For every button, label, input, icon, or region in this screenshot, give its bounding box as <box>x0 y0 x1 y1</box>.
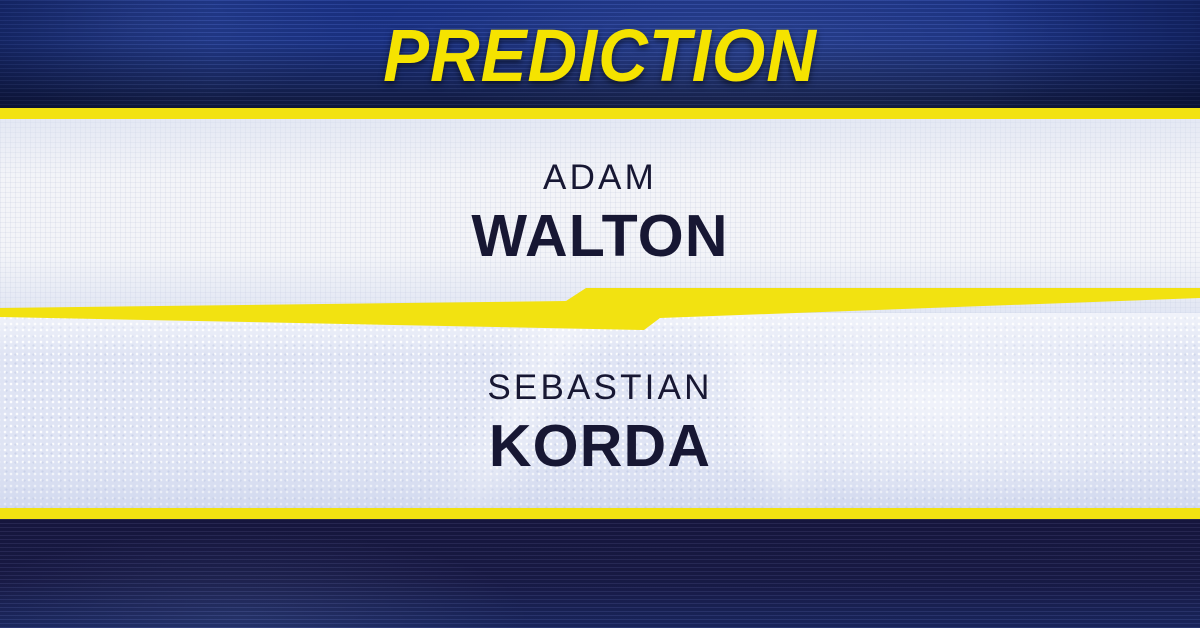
bottom-accent-bar <box>0 508 1200 519</box>
player-two-first-name: SEBASTIAN <box>0 370 1200 405</box>
player-one-first-name: ADAM <box>0 160 1200 195</box>
player-one-name-block: ADAM WALTON <box>0 160 1200 266</box>
player-two-name-block: SEBASTIAN KORDA <box>0 370 1200 476</box>
top-accent-bar <box>0 108 1200 119</box>
player-one-last-name: WALTON <box>0 207 1200 266</box>
footer-banner <box>0 519 1200 628</box>
page-title: PREDICTION <box>42 0 1158 110</box>
player-two-last-name: KORDA <box>0 417 1200 476</box>
footer-scanline-texture <box>0 519 1200 628</box>
prediction-graphic: PREDICTION ADAM WALTON SEBASTIAN KORDA <box>0 0 1200 628</box>
